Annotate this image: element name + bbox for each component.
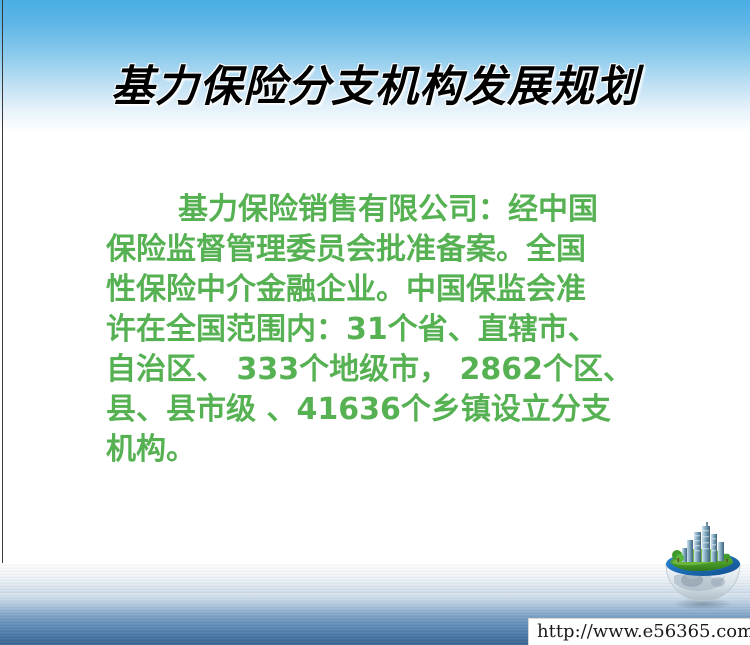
page-title: 基力保险分支机构发展规划 xyxy=(0,52,750,114)
presentation-slide: 基力保险分支机构发展规划 基力保险销售有限公司：经中国 保险监督管理委员会批准备… xyxy=(0,0,750,645)
body-line: 保险监督管理委员会批准备案。全国 xyxy=(106,230,662,270)
slide-body-text: 基力保险销售有限公司：经中国 保险监督管理委员会批准备案。全国 性保险中介金融企… xyxy=(106,190,662,470)
watermark-url: http://www.e56365.com xyxy=(537,621,750,642)
body-line: 县、县市级 、41636个乡镇设立分支 xyxy=(106,390,662,430)
watermark-bar: http://www.e56365.com xyxy=(528,618,750,645)
body-line: 自治区、 333个地级市， 2862个区、 xyxy=(106,350,662,390)
body-line: 性保险中介金融企业。中国保监会准 xyxy=(106,270,662,310)
body-line: 基力保险销售有限公司：经中国 xyxy=(106,190,662,230)
eco-city-globe-icon xyxy=(660,518,746,610)
body-line: 许在全国范围内：31个省、直辖市、 xyxy=(106,310,662,350)
body-line: 机构。 xyxy=(106,430,662,470)
